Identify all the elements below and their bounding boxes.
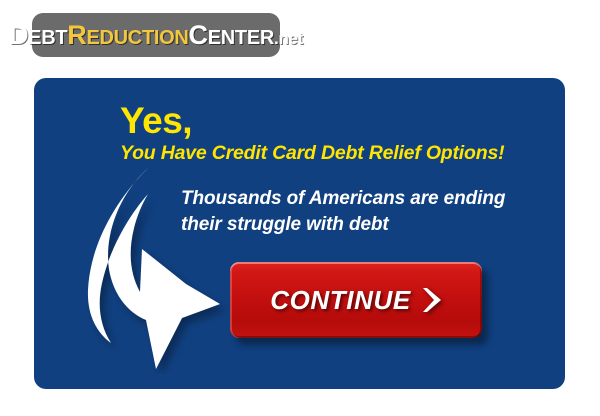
headline-block: Yes, You Have Credit Card Debt Relief Op…	[120, 102, 560, 164]
logo-segment-reduction: REDUCTION	[67, 26, 188, 49]
chevron-right-icon	[422, 287, 442, 313]
headline-secondary: You Have Credit Card Debt Relief Options…	[120, 143, 560, 164]
promo-panel: Yes, You Have Credit Card Debt Relief Op…	[34, 78, 565, 389]
continue-button-label: CONTINUE	[270, 287, 411, 313]
logo-segment-debt: DEBT	[9, 26, 67, 49]
site-logo[interactable]: DEBTREDUCTIONCENTER.net	[32, 13, 280, 57]
continue-button[interactable]: CONTINUE	[230, 262, 482, 338]
body-copy-line-1: Thousands of Americans are ending	[181, 186, 551, 212]
body-copy-line-2: their struggle with debt	[181, 212, 551, 238]
logo-wordmark: DEBTREDUCTIONCENTER.net	[9, 22, 303, 49]
logo-segment-center: CENTER	[189, 26, 275, 49]
body-copy: Thousands of Americans are ending their …	[181, 186, 551, 238]
logo-tld: .net	[274, 29, 303, 48]
headline-primary: Yes,	[120, 102, 560, 139]
